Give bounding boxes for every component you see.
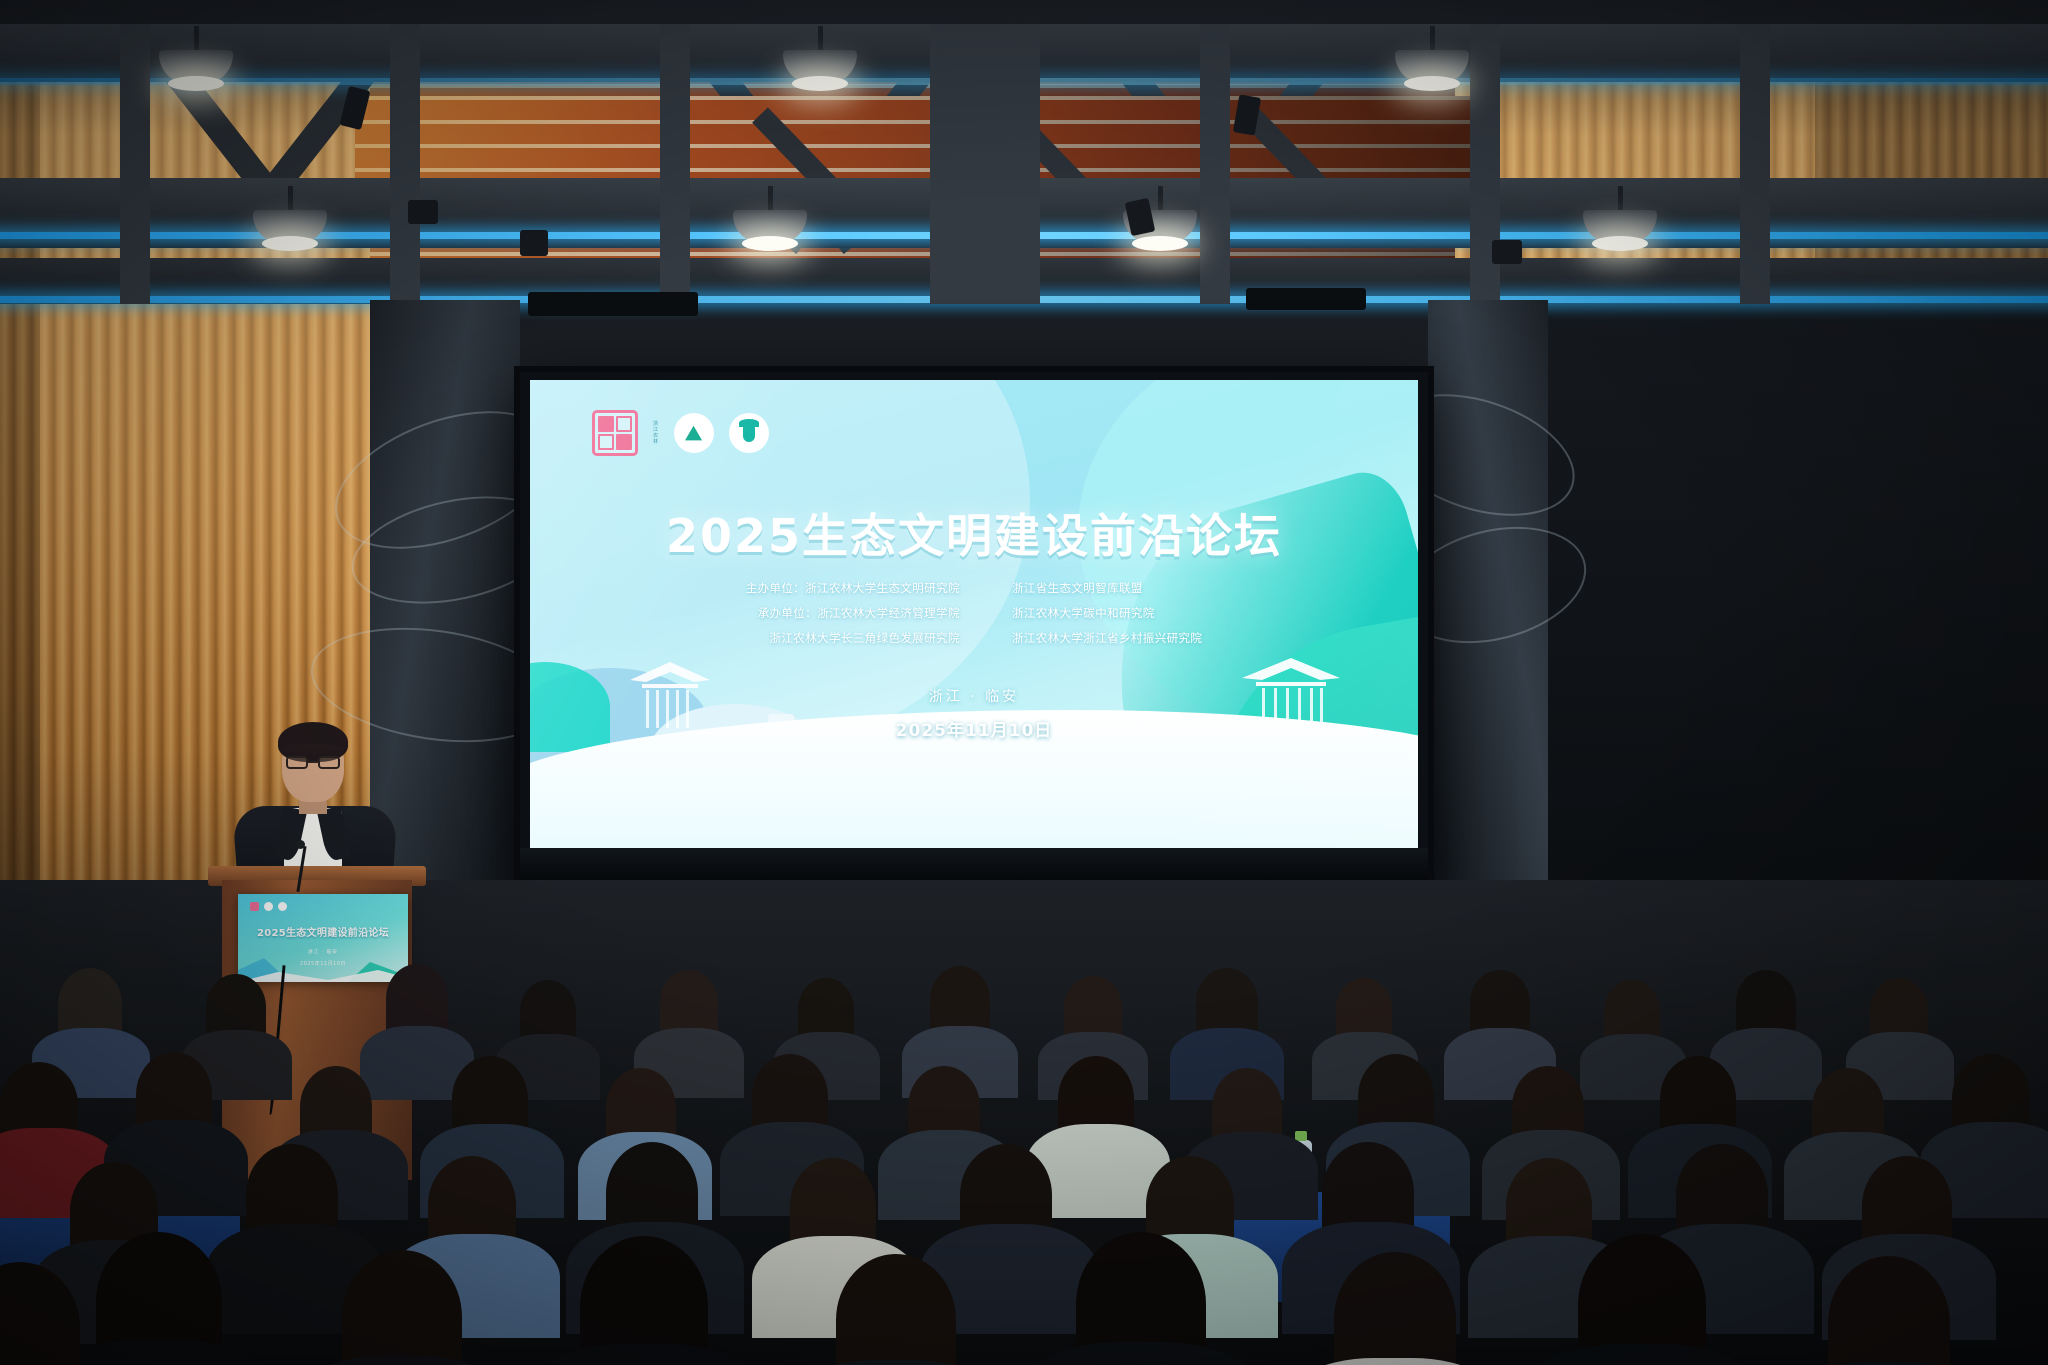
ceiling-speaker	[1492, 240, 1522, 264]
podium-banner-place: 浙江 · 临安	[238, 949, 408, 955]
ceiling-speaker	[408, 200, 438, 224]
glossy-wall-left	[370, 300, 520, 900]
organizer-line: 浙江农林大学浙江省乡村振兴研究院	[1012, 630, 1202, 646]
truss-vertical-brace	[1200, 24, 1230, 304]
logo-row: 浙江农林 ⛰	[592, 410, 769, 456]
forum-place: 浙江 · 临安	[530, 686, 1418, 706]
truss-vertical-brace	[120, 24, 150, 304]
truss-vertical-brace	[660, 24, 690, 304]
truss-vertical-brace	[930, 24, 1040, 304]
dark-side-wall	[1540, 300, 2048, 920]
organizer-line: 浙江农林大学长三角绿色发展研究院	[746, 630, 960, 646]
screen-content: 浙江农林 ⛰ 2025生态文明建设前沿论坛 主办单位：浙江农林大学生态文明研究院…	[530, 380, 1418, 848]
organizer-column-right: 浙江省生态文明智库联盟 浙江农林大学碳中和研究院 浙江农林大学浙江省乡村振兴研究…	[1012, 580, 1202, 646]
led-screen: 浙江农林 ⛰ 2025生态文明建设前沿论坛 主办单位：浙江农林大学生态文明研究院…	[520, 372, 1428, 882]
green-leaf-emblem-logo	[729, 413, 769, 453]
ceiling-speaker	[520, 230, 548, 256]
glasses-icon	[286, 756, 340, 769]
forum-title: 2025生态文明建设前沿论坛	[530, 500, 1418, 566]
organizer-block: 主办单位：浙江农林大学生态文明研究院 承办单位：浙江农林大学经济管理学院 浙江农…	[530, 580, 1418, 646]
organizer-line: 承办单位：浙江农林大学经济管理学院	[746, 605, 960, 621]
screen-bezel	[520, 848, 1428, 882]
truss-vertical-brace	[390, 24, 420, 304]
organizer-line: 主办单位：浙江农林大学生态文明研究院	[746, 580, 960, 596]
microphone-head	[296, 840, 305, 849]
projector-mount	[1246, 288, 1366, 310]
zhejiang-a-and-f-university-logo	[592, 410, 638, 456]
conference-hall-photo: 浙江农林 ⛰ 2025生态文明建设前沿论坛 主办单位：浙江农林大学生态文明研究院…	[0, 0, 2048, 1365]
audience-row-front	[0, 1232, 2048, 1365]
podium-banner-title: 2025生态文明建设前沿论坛	[238, 924, 408, 939]
forum-date: 2025年11月10日	[530, 716, 1418, 741]
institute-logo-icon	[264, 902, 273, 911]
leaf-logo-icon	[278, 902, 287, 911]
ecological-civilization-institute-logo: ⛰	[674, 413, 714, 453]
organizer-column-left: 主办单位：浙江农林大学生态文明研究院 承办单位：浙江农林大学经济管理学院 浙江农…	[746, 580, 960, 646]
organizer-line: 浙江省生态文明智库联盟	[1012, 580, 1202, 596]
organizer-line: 浙江农林大学碳中和研究院	[1012, 605, 1202, 621]
truss-vertical-brace	[1740, 24, 1770, 304]
projector-mount	[528, 292, 698, 316]
logo-caption-vertical: 浙江农林	[653, 421, 659, 446]
podium-banner-logos	[250, 902, 287, 911]
university-logo-icon	[250, 902, 259, 911]
glossy-wall-right	[1428, 300, 1548, 900]
